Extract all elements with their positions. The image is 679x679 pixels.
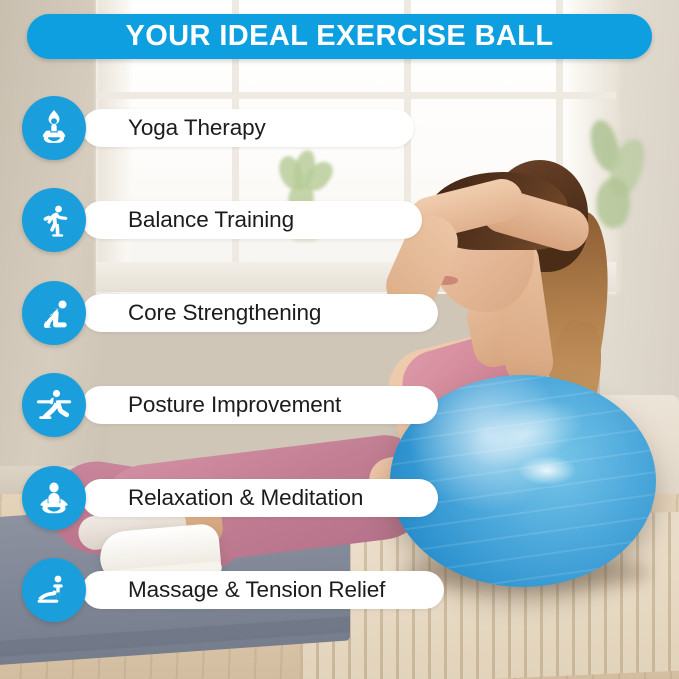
list-item[interactable]: Posture Improvement — [22, 373, 422, 437]
list-item[interactable]: Core Strengthening — [22, 281, 422, 345]
list-item[interactable]: Yoga Therapy — [22, 96, 422, 160]
list-item[interactable]: Massage & Tension Relief — [22, 558, 442, 622]
feature-pill: Core Strengthening — [82, 294, 438, 332]
list-item[interactable]: Balance Training — [22, 188, 422, 252]
feature-label: Balance Training — [128, 207, 294, 233]
feature-label: Posture Improvement — [128, 392, 341, 418]
feature-label: Core Strengthening — [128, 300, 321, 326]
feature-label: Yoga Therapy — [128, 115, 266, 141]
feature-label: Massage & Tension Relief — [128, 577, 385, 603]
feature-pill: Balance Training — [82, 201, 422, 239]
list-item[interactable]: Relaxation & Meditation — [22, 466, 442, 530]
feature-pill: Yoga Therapy — [82, 109, 414, 147]
core-crunch-icon — [22, 281, 86, 345]
feature-list: Yoga Therapy Bala — [0, 0, 679, 679]
warrior-stretch-pose-icon — [22, 373, 86, 437]
feature-pill: Massage & Tension Relief — [82, 571, 444, 609]
yoga-lotus-arms-up-icon — [22, 96, 86, 160]
balance-dancer-pose-icon — [22, 188, 86, 252]
feature-pill: Posture Improvement — [82, 386, 438, 424]
product-feature-graphic: YOUR IDEAL EXERCISE BALL Yoga Therapy — [0, 0, 679, 679]
meditation-lotus-icon — [22, 466, 86, 530]
massage-table-icon — [22, 558, 86, 622]
feature-label: Relaxation & Meditation — [128, 485, 363, 511]
feature-pill: Relaxation & Meditation — [82, 479, 438, 517]
